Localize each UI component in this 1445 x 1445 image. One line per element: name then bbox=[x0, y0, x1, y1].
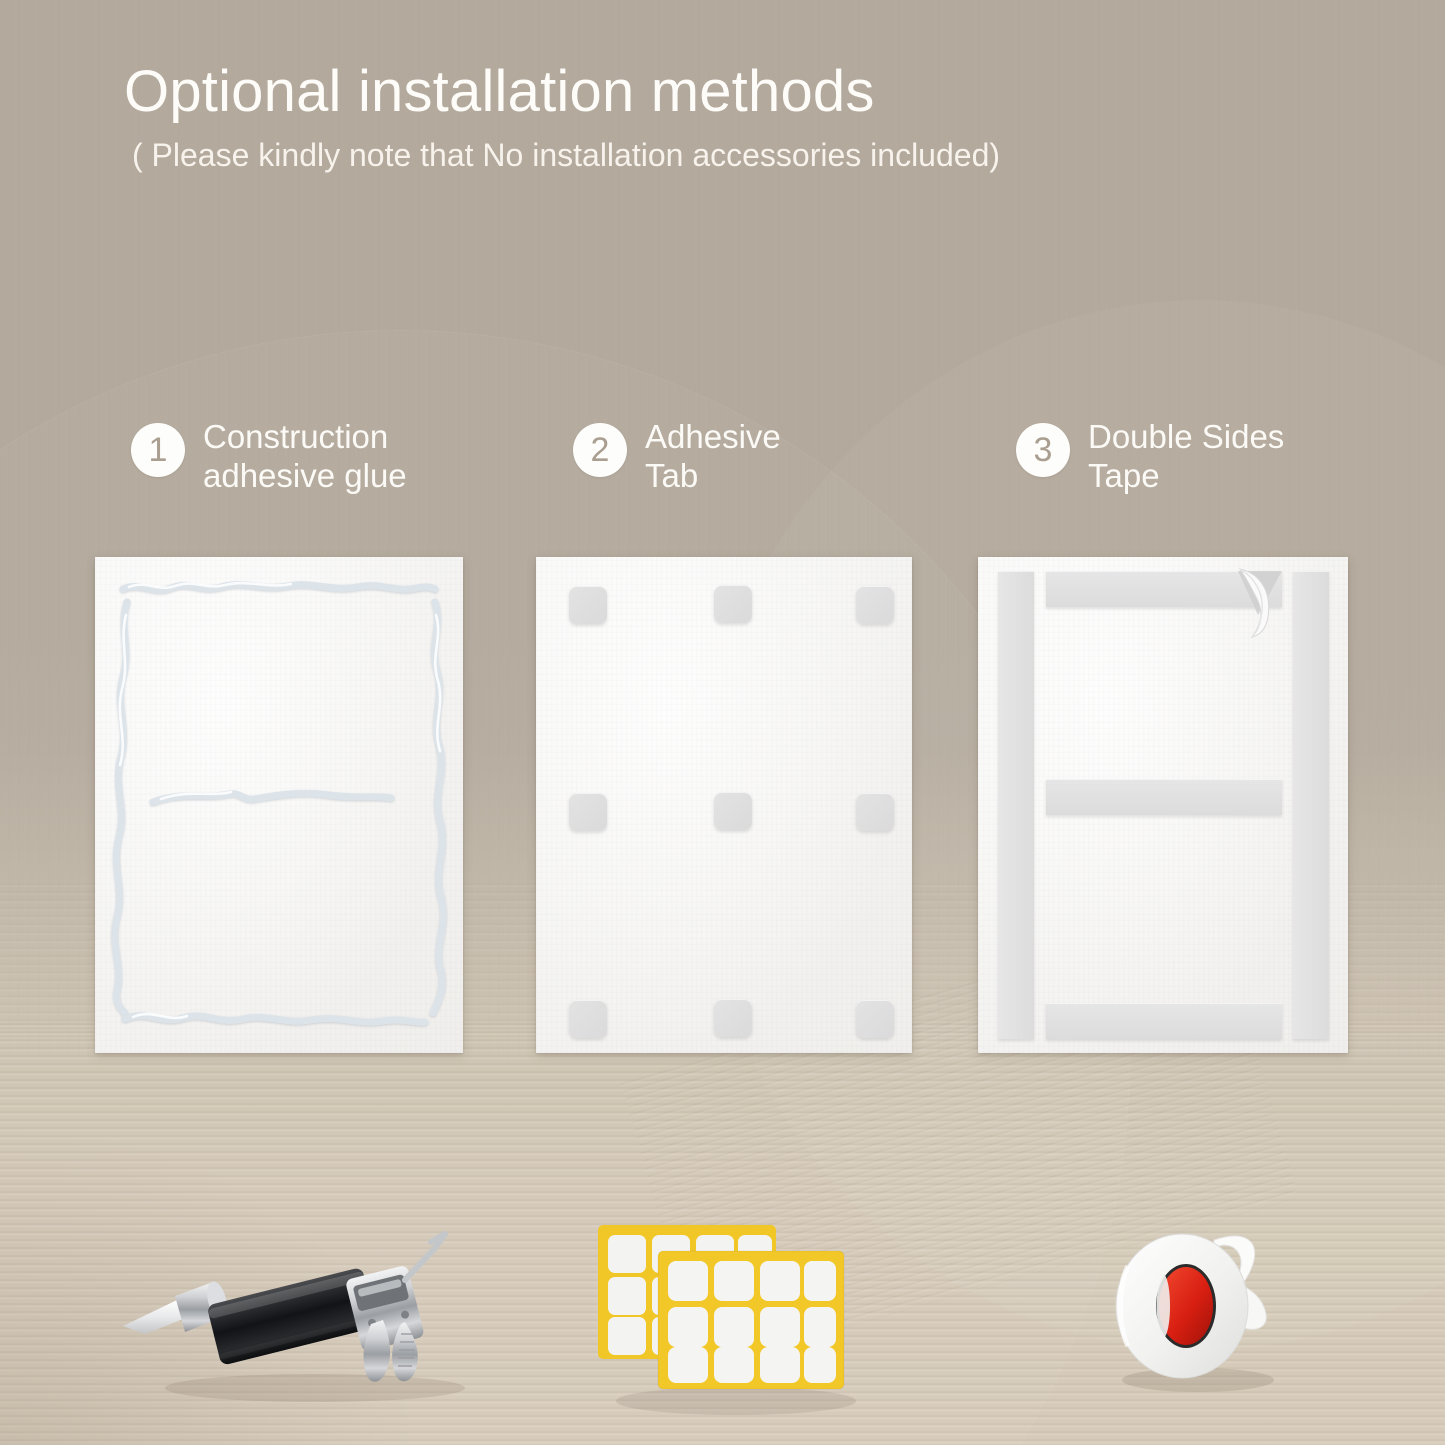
tab-sheets-shadow bbox=[616, 1387, 856, 1415]
infographic-canvas: Optional installation methods ( Please k… bbox=[0, 0, 1445, 1445]
adhesive-tab bbox=[856, 586, 894, 624]
step-text-2-line1: Adhesive bbox=[645, 418, 781, 457]
adhesive-tab bbox=[569, 1000, 607, 1038]
step-label-3: 3 Double Sides Tape bbox=[1016, 418, 1284, 496]
tape-strip-vertical-left bbox=[998, 571, 1034, 1039]
step-text-2-line2: Tab bbox=[645, 457, 781, 496]
step-text-2: Adhesive Tab bbox=[645, 418, 781, 496]
caulk-gun-shadow bbox=[165, 1374, 465, 1402]
double-sided-tape-roll bbox=[1094, 1218, 1309, 1398]
step-label-1: 1 Construction adhesive glue bbox=[131, 418, 407, 496]
adhesive-tab-sheet-front bbox=[658, 1251, 844, 1389]
tape-strip-horizontal-middle bbox=[1046, 779, 1282, 815]
step-number-badge-1: 1 bbox=[131, 423, 185, 477]
tape-peel-corner-icon bbox=[1218, 563, 1308, 643]
adhesive-tab bbox=[856, 793, 894, 831]
glue-bead-svg bbox=[95, 557, 463, 1053]
page-subtitle: ( Please kindly note that No installatio… bbox=[132, 137, 1000, 174]
step-label-2: 2 Adhesive Tab bbox=[573, 418, 781, 496]
adhesive-tab bbox=[714, 999, 752, 1037]
glue-bead-diagram bbox=[95, 557, 463, 1053]
adhesive-tab bbox=[714, 792, 752, 830]
adhesive-tab-diagram bbox=[536, 557, 912, 1053]
step-text-1-line2: adhesive glue bbox=[203, 457, 407, 496]
step-text-1-line1: Construction bbox=[203, 418, 407, 457]
step-number-badge-2: 2 bbox=[573, 423, 627, 477]
double-sided-tape-diagram bbox=[978, 557, 1348, 1053]
adhesive-tab-sheets bbox=[586, 1219, 866, 1441]
adhesive-tab bbox=[569, 586, 607, 624]
caulking-gun bbox=[105, 1222, 505, 1437]
adhesive-tab bbox=[856, 1000, 894, 1038]
header: Optional installation methods ( Please k… bbox=[124, 62, 1000, 174]
step-text-3: Double Sides Tape bbox=[1088, 418, 1284, 496]
step-text-3-line1: Double Sides bbox=[1088, 418, 1284, 457]
caulk-plunger-rod bbox=[405, 1234, 445, 1280]
adhesive-tab bbox=[714, 585, 752, 623]
tape-strip-horizontal-bottom bbox=[1046, 1003, 1282, 1039]
step-text-1: Construction adhesive glue bbox=[203, 418, 407, 496]
step-text-3-line2: Tape bbox=[1088, 457, 1284, 496]
page-title: Optional installation methods bbox=[124, 62, 1000, 123]
adhesive-tab bbox=[569, 793, 607, 831]
step-number-badge-3: 3 bbox=[1016, 423, 1070, 477]
